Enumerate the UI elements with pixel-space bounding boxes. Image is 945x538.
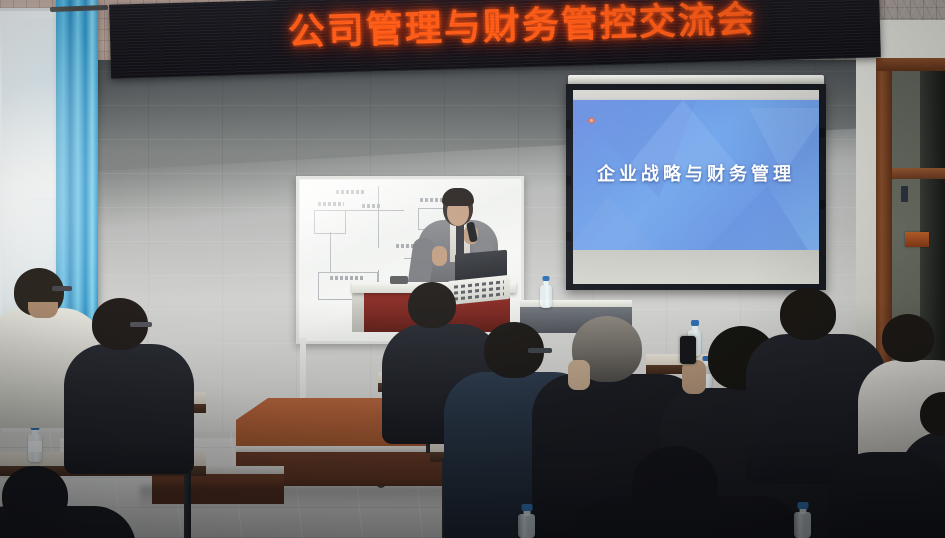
glasses-icon bbox=[130, 322, 152, 327]
presenter-hand-left bbox=[432, 246, 447, 266]
screen-lower-band bbox=[573, 250, 819, 284]
door-transom-rail bbox=[892, 168, 945, 179]
screen-clip-left-2 bbox=[566, 176, 571, 185]
table-leg bbox=[184, 472, 191, 538]
screen-clip-right-1 bbox=[820, 128, 825, 137]
screen-clip-left-1 bbox=[566, 120, 571, 129]
podium-object bbox=[390, 276, 408, 284]
slide-title-text: 企业战略与财务管理 bbox=[573, 160, 819, 186]
conference-photo-scene: 公司管理与财务管控交流会 企业战略与财务管理 bbox=[0, 0, 945, 538]
company-logo-icon bbox=[585, 114, 598, 127]
screen-clip-right-2 bbox=[820, 200, 825, 209]
water-bottle bbox=[28, 424, 42, 462]
slide-polygon-5 bbox=[573, 196, 663, 258]
presenter-hair bbox=[442, 188, 474, 206]
water-bottle bbox=[540, 276, 552, 308]
presentation-slide: 企业战略与财务管理 bbox=[573, 100, 819, 258]
podium-side bbox=[352, 290, 364, 332]
slide-polygon-3 bbox=[693, 186, 817, 258]
led-banner-text: 公司管理与财务管控交流会 bbox=[287, 0, 756, 55]
hand bbox=[568, 360, 590, 390]
hand bbox=[682, 360, 706, 394]
smartphone-icon bbox=[680, 336, 696, 364]
corridor-switch bbox=[901, 186, 908, 202]
screen-clip-left-3 bbox=[566, 232, 571, 241]
list-item bbox=[828, 452, 945, 538]
door-frame-header bbox=[876, 58, 945, 71]
water-bottle bbox=[794, 502, 811, 538]
corridor-shadow bbox=[920, 70, 945, 360]
corridor-sign bbox=[905, 232, 929, 247]
glasses-icon bbox=[528, 348, 552, 353]
water-bottle bbox=[518, 504, 535, 538]
glasses-icon bbox=[52, 286, 72, 291]
